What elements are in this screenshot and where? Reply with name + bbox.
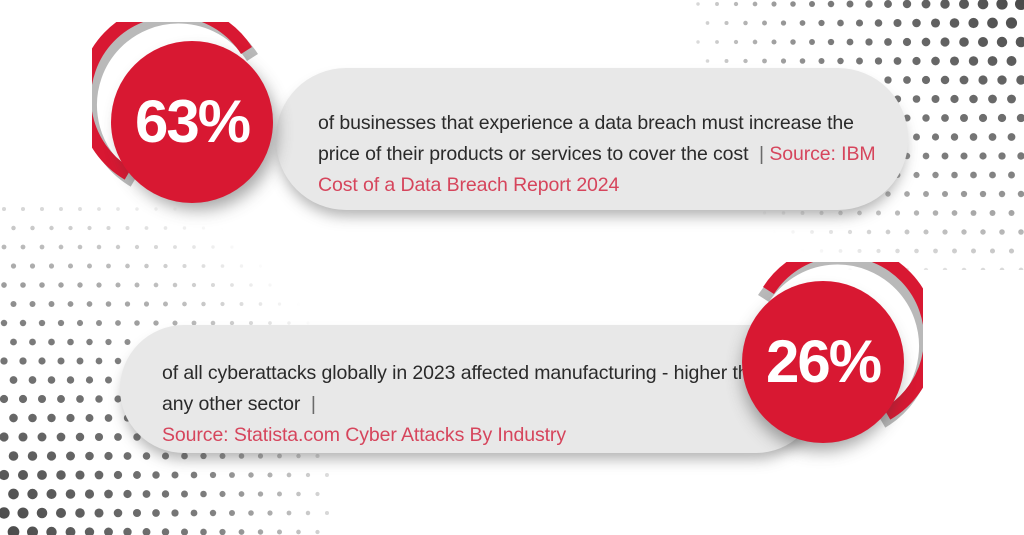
stat-value: 26% [766,332,880,392]
stat-card-text: of businesses that experience a data bre… [318,77,886,201]
stat-card: of all cyberattacks globally in 2023 aff… [120,325,820,453]
stat-value-circle: 26% [742,281,904,443]
infographic-canvas: of businesses that experience a data bre… [0,0,1024,535]
stat-badge: 26% [723,262,923,462]
stat-source-text: Source: Statista.com Cyber Attacks By In… [162,424,566,446]
stat-value-circle: 63% [111,41,273,203]
text-divider: | [311,393,316,415]
stat-body-text: of all cyberattacks globally in 2023 aff… [162,362,770,415]
stat-badge: 63% [92,22,292,222]
stat-card: of businesses that experience a data bre… [276,68,908,210]
stat-card-text: of all cyberattacks globally in 2023 aff… [162,327,798,451]
stat-block-manufacturing-cyberattacks-share: of all cyberattacks globally in 2023 aff… [0,250,1024,535]
stat-block-data-breach-price-increase: of businesses that experience a data bre… [0,0,1024,250]
stat-value: 63% [135,92,249,152]
